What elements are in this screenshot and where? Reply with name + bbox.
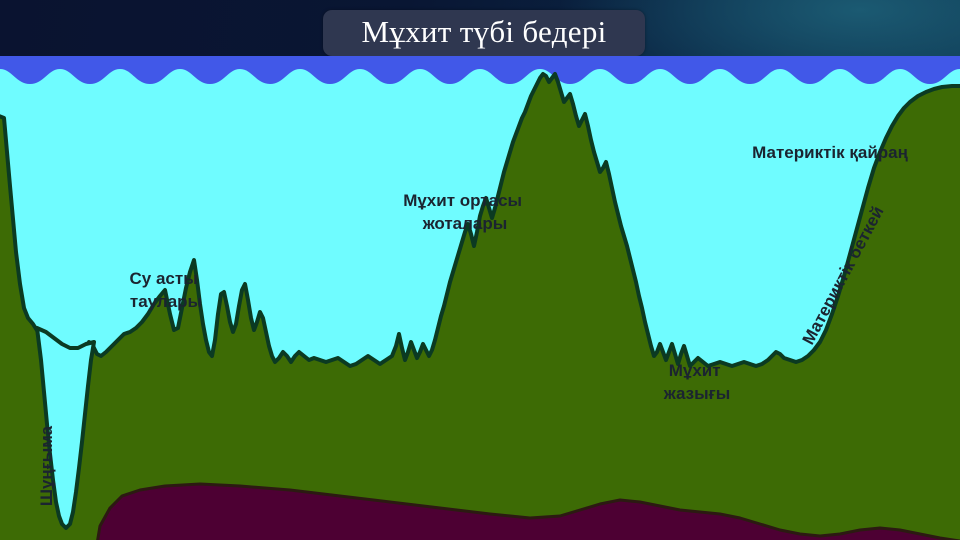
title-chip: Мұхит түбі бедері <box>323 10 645 56</box>
screenshot-root: Мұхит түбі бедері Материктік қайраң Мате… <box>0 0 960 540</box>
ocean-floor-cross-section: Материктік қайраң Материктік беткей Шұңғ… <box>0 56 960 540</box>
label-abyssal-plain-line1: Мұхит <box>669 361 721 380</box>
label-continental-shelf: Материктік қайраң <box>752 143 908 162</box>
label-seamounts-line2: таулары <box>130 292 202 311</box>
header-band: Мұхит түбі бедері <box>0 0 960 56</box>
page-title: Мұхит түбі бедері <box>323 10 645 56</box>
label-mid-ocean-ridge-line1: Мұхит ортасы <box>403 191 522 210</box>
label-trench: Шұңғыма <box>37 425 56 506</box>
label-mid-ocean-ridge-line2: жоталары <box>422 214 508 233</box>
label-seamounts-line1: Су асты <box>130 269 198 288</box>
label-abyssal-plain-line2: жазығы <box>663 384 731 403</box>
